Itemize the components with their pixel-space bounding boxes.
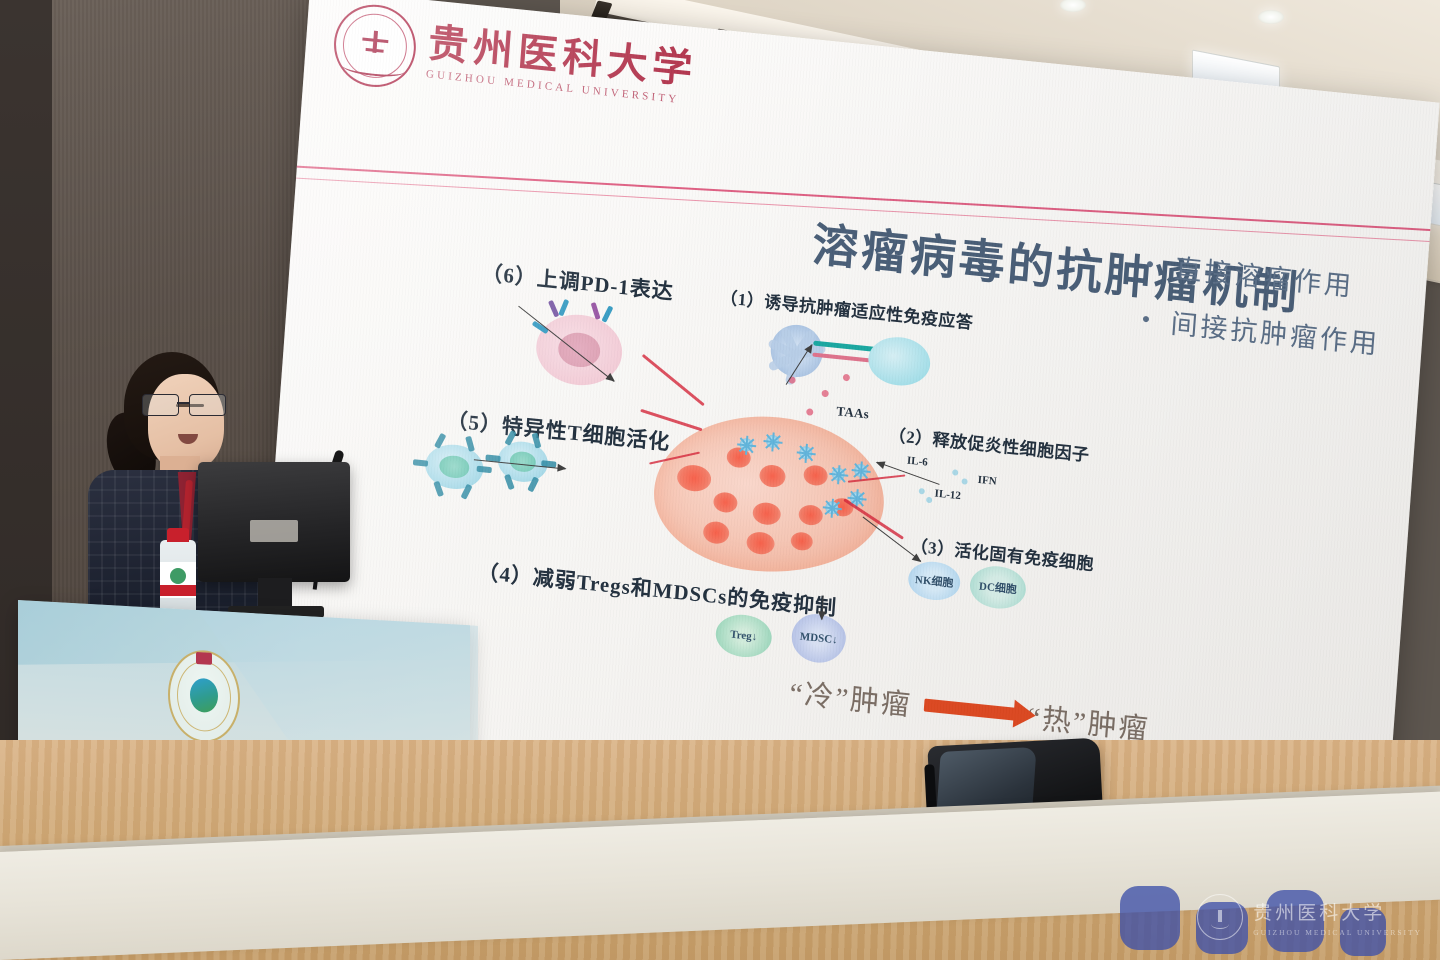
glasses-icon xyxy=(142,394,228,416)
treg-cell: Treg↓ xyxy=(714,612,773,660)
conference-emblem-icon xyxy=(168,648,240,744)
label-5-t-cell-activation: （5）特异性T细胞活化 xyxy=(446,404,672,457)
blood-vessel xyxy=(642,354,705,406)
cytokine-particle xyxy=(952,469,958,476)
dendritic-cell xyxy=(769,322,825,379)
dc-cell: DC细胞 xyxy=(969,564,1028,612)
bullet-dot-icon xyxy=(1147,260,1153,267)
bullet-label: 间接抗肿瘤作用 xyxy=(1169,302,1381,362)
cytokine-particle xyxy=(919,488,925,495)
naive-t-cell xyxy=(867,334,932,388)
activated-t-cell xyxy=(424,442,485,492)
nk-cell-label: NK细胞 xyxy=(915,571,954,591)
dc-cell-label: DC细胞 xyxy=(979,577,1018,597)
cytokine-particle xyxy=(926,497,932,504)
watermark: 贵州医科大学 GUIZHOU MEDICAL UNIVERSITY xyxy=(1197,894,1422,940)
tumor-antigen-particle xyxy=(843,374,850,382)
immune-synapse xyxy=(812,353,870,363)
annotation-ifn: IFN xyxy=(977,474,997,488)
bullet-label: 直接溶瘤作用 xyxy=(1174,247,1356,304)
cytokine-particle xyxy=(961,478,967,485)
nk-cell: NK细胞 xyxy=(907,559,962,602)
mdsc-label: MDSC↓ xyxy=(799,631,838,647)
annotation-taas: TAAs xyxy=(836,403,870,422)
slide-bullet-list: 直接溶瘤作用 间接抗肿瘤作用 xyxy=(1140,244,1385,378)
bullet-dot-icon xyxy=(1143,315,1149,322)
cold-to-hot-tumor: “冷”肿瘤 “热”肿瘤 xyxy=(788,670,1151,748)
presentation-photo: 贵州医科大学 GUIZHOU MEDICAL UNIVERSITY 溶瘤病毒的抗… xyxy=(0,0,1440,960)
annotation-il12: IL-12 xyxy=(934,488,961,503)
treg-label: Treg↓ xyxy=(730,629,758,644)
tumor-antigen-particle xyxy=(806,408,813,416)
annotation-il6: IL-6 xyxy=(907,455,929,469)
conversion-arrow-icon xyxy=(923,698,1016,720)
watermark-name-en: GUIZHOU MEDICAL UNIVERSITY xyxy=(1253,928,1422,937)
watermark-name-cn: 贵州医科大学 xyxy=(1253,898,1422,925)
seal-crest-icon xyxy=(357,29,393,62)
tumor-mass-illustration xyxy=(649,405,889,583)
label-6-upregulate-pd1: （6）上调PD-1表达 xyxy=(481,257,675,306)
cold-tumor-label: “冷”肿瘤 xyxy=(788,670,913,724)
confidence-monitor xyxy=(198,462,350,582)
university-seal-icon xyxy=(331,1,419,91)
tumor-antigen-particle xyxy=(821,390,828,398)
ceiling-downlight xyxy=(1258,10,1284,24)
label-1-adaptive-immunity: （1）诱导抗肿瘤适应性免疫应答 xyxy=(720,283,975,334)
watermark-seal-icon xyxy=(1197,894,1243,940)
seal-arc xyxy=(342,59,405,79)
bullet-item: 间接抗肿瘤作用 xyxy=(1142,299,1382,362)
